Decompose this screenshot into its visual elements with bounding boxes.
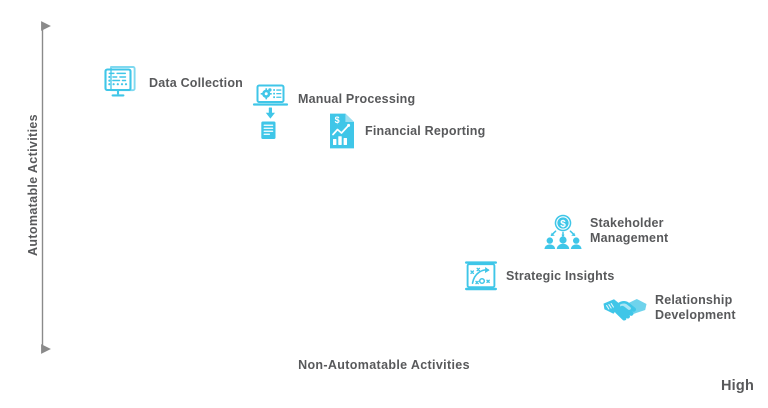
strategy-board-icon — [463, 258, 499, 294]
stakeholder-coin-people-icon: $ — [543, 211, 583, 251]
matrix-item-stakeholder-management[interactable]: $ — [543, 211, 668, 251]
matrix-chart-canvas: Automatable Activities Non-Automatable A… — [0, 0, 768, 408]
matrix-item-label: Data Collection — [149, 76, 243, 91]
matrix-item-label: Relationship Development — [655, 293, 736, 323]
x-axis-high-label: High — [721, 378, 754, 394]
y-axis-label: Automatable Activities — [26, 80, 40, 290]
financial-report-icon: $ — [326, 112, 358, 150]
monitor-data-icon — [100, 62, 142, 104]
handshake-icon — [602, 292, 648, 324]
matrix-item-label: Manual Processing — [298, 83, 415, 107]
matrix-item-data-collection[interactable]: Data Collection — [100, 62, 243, 104]
x-axis-label-text: Non-Automatable Activities — [286, 358, 482, 372]
svg-text:$: $ — [335, 115, 340, 125]
matrix-item-strategic-insights[interactable]: Strategic Insights — [463, 258, 614, 294]
matrix-item-label: Stakeholder Management — [590, 216, 668, 246]
svg-text:$: $ — [560, 219, 566, 230]
matrix-item-label: Strategic Insights — [506, 269, 614, 284]
matrix-item-financial-reporting[interactable]: $ Financial Reporting — [326, 112, 485, 150]
x-axis-label: Non-Automatable Activities — [0, 358, 768, 372]
matrix-item-label: Financial Reporting — [365, 124, 485, 139]
laptop-gear-document-icon — [251, 83, 291, 141]
matrix-item-relationship-development[interactable]: Relationship Development — [602, 292, 736, 324]
